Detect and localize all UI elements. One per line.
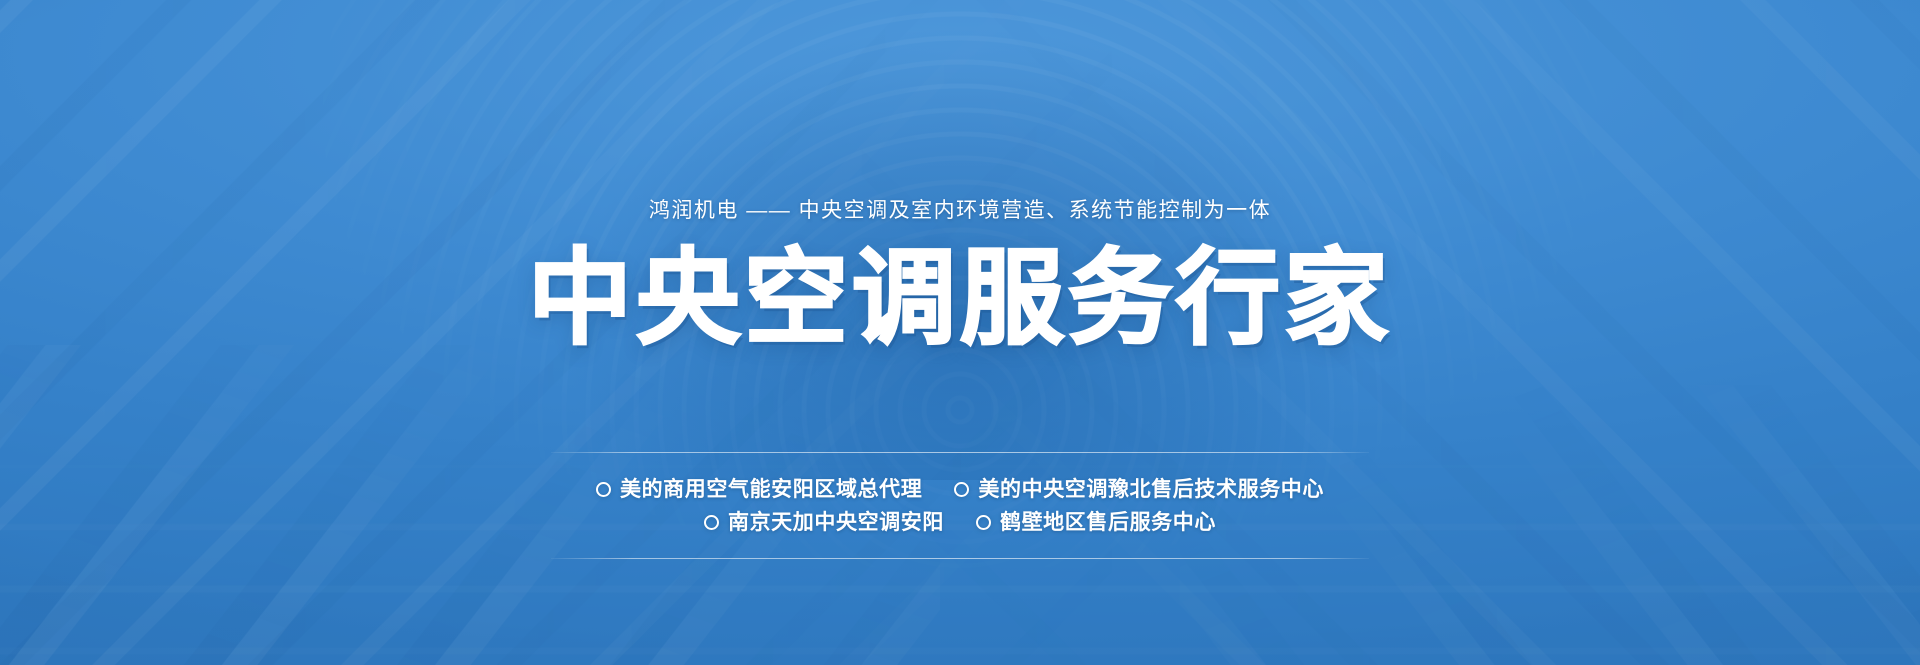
banner-subtitle: 鸿润机电 —— 中央空调及室内环境营造、系统节能控制为一体 [649,200,1271,221]
service-tag-list: 美的商用空气能安阳区域总代理 美的中央空调豫北售后技术服务中心 南京天加中央空调… [596,479,1324,533]
circle-outline-icon [954,482,969,497]
service-tag[interactable]: 南京天加中央空调安阳 [704,512,944,533]
divider-bottom [551,558,1369,559]
service-tag-row: 南京天加中央空调安阳 鹤壁地区售后服务中心 [704,512,1216,533]
service-tag-label: 美的商用空气能安阳区域总代理 [620,479,922,500]
service-tag-label: 美的中央空调豫北售后技术服务中心 [978,479,1324,500]
hero-banner: 鸿润机电 —— 中央空调及室内环境营造、系统节能控制为一体 中央空调服务行家 美… [0,0,1920,665]
service-tag[interactable]: 鹤壁地区售后服务中心 [976,512,1216,533]
service-tag-label: 鹤壁地区售后服务中心 [1000,512,1216,533]
circle-outline-icon [976,515,991,530]
service-tag[interactable]: 美的商用空气能安阳区域总代理 [596,479,922,500]
circle-outline-icon [596,482,611,497]
banner-content: 鸿润机电 —— 中央空调及室内环境营造、系统节能控制为一体 中央空调服务行家 美… [0,0,1920,665]
service-tag[interactable]: 美的中央空调豫北售后技术服务中心 [954,479,1324,500]
service-tag-row: 美的商用空气能安阳区域总代理 美的中央空调豫北售后技术服务中心 [596,479,1324,500]
banner-headline: 中央空调服务行家 [528,243,1392,355]
divider-top [551,452,1369,453]
circle-outline-icon [704,515,719,530]
service-tag-label: 南京天加中央空调安阳 [728,512,944,533]
